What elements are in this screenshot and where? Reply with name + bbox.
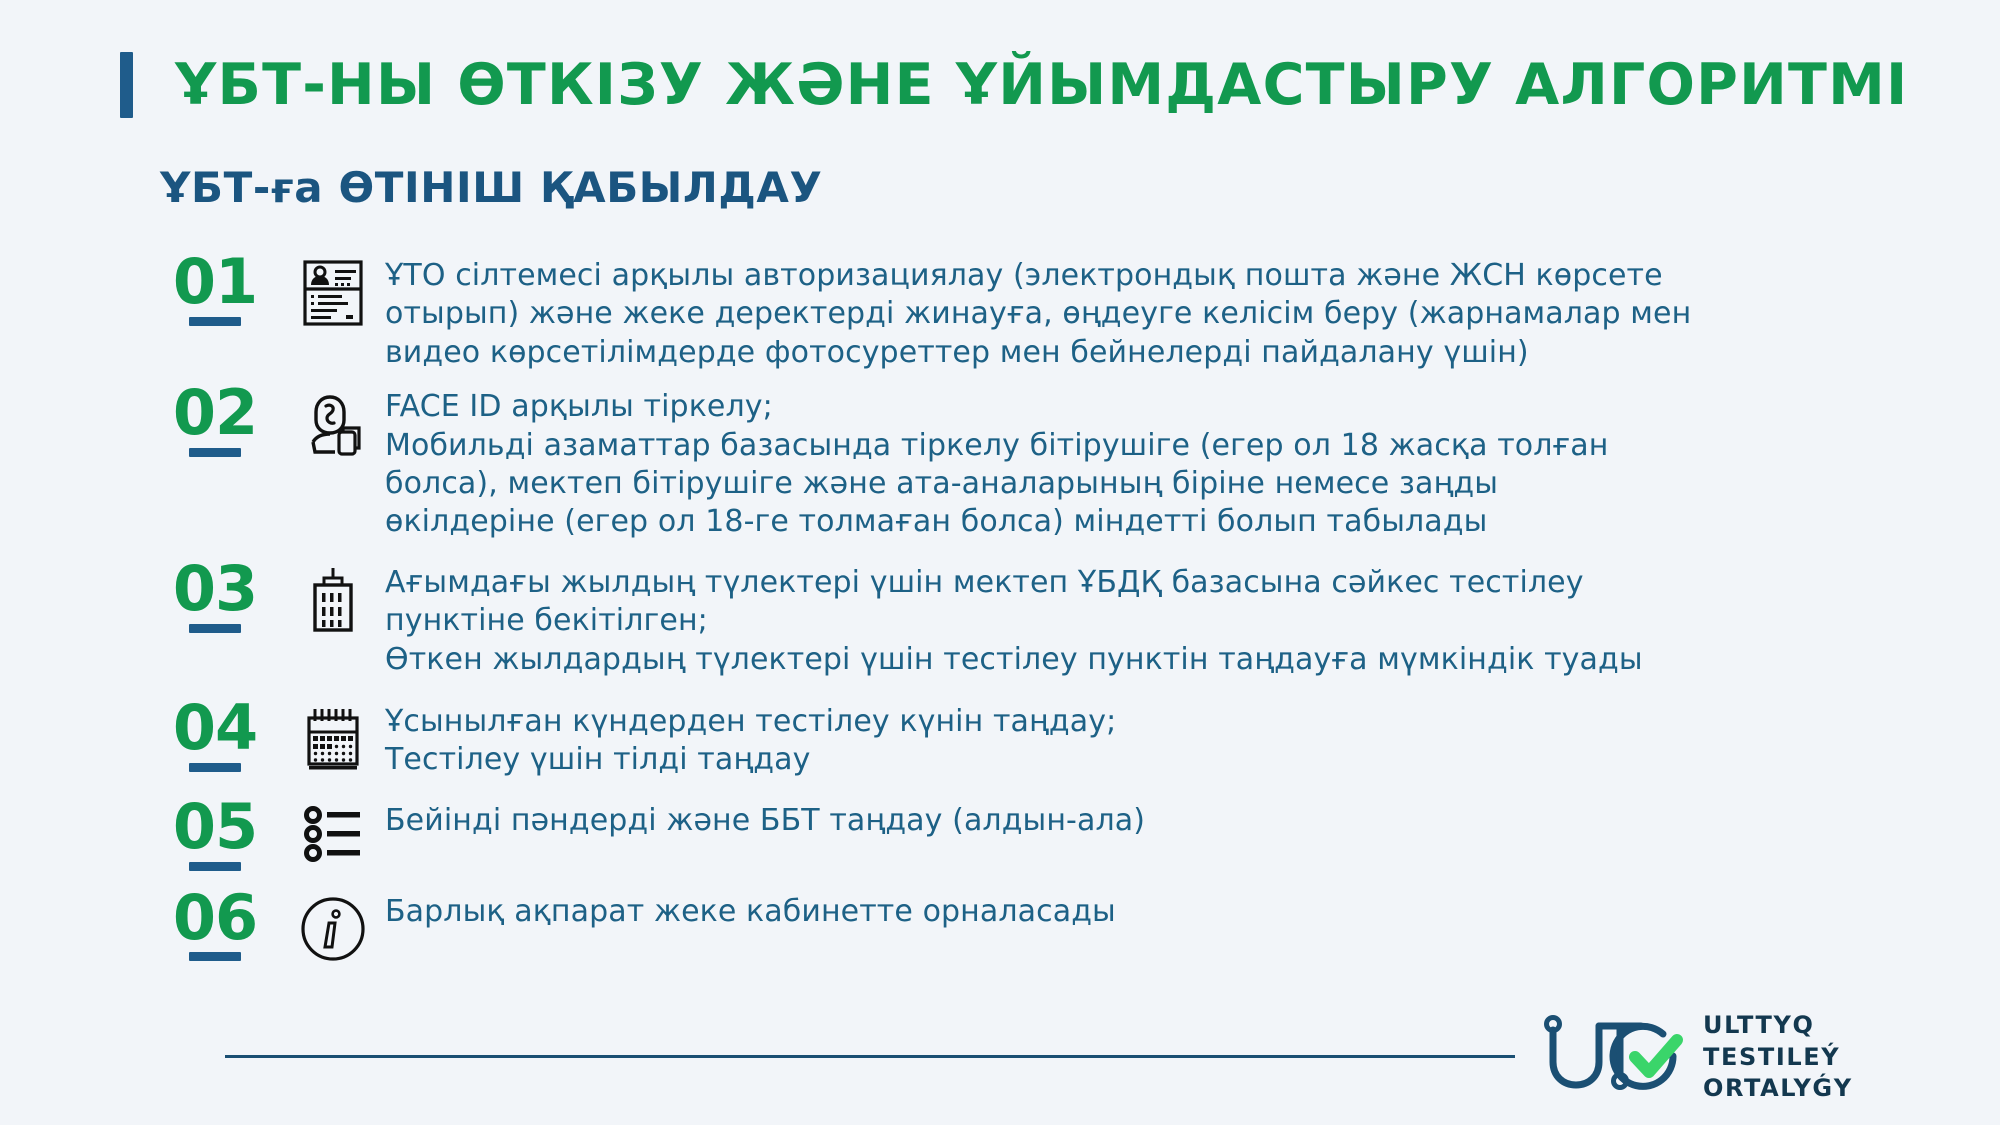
logo-line-2: TESTILEÝ (1703, 1042, 1853, 1074)
bullet-list-icon (280, 798, 385, 864)
step-text: Барлық ақпарат жеке кабинетте орналасады (385, 889, 1850, 931)
logo-line-3: ORTALYǴY (1703, 1073, 1853, 1105)
step-number: 06 (173, 889, 257, 948)
step-text: Ұсынылған күндерден тестілеу күнін таңда… (385, 699, 1850, 780)
uto-logo-icon (1535, 1012, 1685, 1104)
step-item: 05 Бейінді пәндерді және ББТ таңдау (алд… (150, 798, 1850, 871)
step-number-underline (189, 862, 241, 871)
steps-list: 01 (150, 253, 1850, 973)
step-number-underline (189, 763, 241, 772)
step-number: 03 (173, 560, 257, 619)
building-icon (280, 560, 385, 634)
step-number-wrap: 02 (150, 384, 280, 457)
face-id-icon (280, 384, 385, 458)
step-item: 04 (150, 699, 1850, 780)
slide-root: ҰБТ-НЫ ӨТКІЗУ ЖӘНЕ ҰЙЫМДАСТЫРУ АЛГОРИТМІ… (0, 0, 2000, 1125)
page-title: ҰБТ-НЫ ӨТКІЗУ ЖӘНЕ ҰЙЫМДАСТЫРУ АЛГОРИТМІ (175, 52, 1908, 118)
step-item: 03 Ағ (150, 560, 1850, 679)
step-number-underline (189, 317, 241, 326)
id-card-icon (280, 253, 385, 327)
step-text: FACE ID арқылы тіркелу; Мобильді азаматт… (385, 384, 1850, 542)
step-number: 05 (173, 798, 257, 857)
step-number-underline (189, 952, 241, 961)
footer-divider (225, 1055, 1515, 1058)
logo-line-1: ULTTYQ (1703, 1010, 1853, 1042)
step-number-underline (189, 448, 241, 457)
step-item: 06 Барлық ақпарат жеке кабинетте орналас… (150, 889, 1850, 963)
step-number: 01 (173, 253, 257, 312)
uto-logo: ULTTYQ TESTILEÝ ORTALYǴY (1535, 1010, 1853, 1105)
step-number-wrap: 01 (150, 253, 280, 326)
step-number-wrap: 03 (150, 560, 280, 633)
info-circle-icon (280, 889, 385, 963)
step-text: Бейінді пәндерді және ББТ таңдау (алдын-… (385, 798, 1850, 840)
page-subtitle: ҰБТ-ға ӨТІНІШ ҚАБЫЛДАУ (160, 163, 823, 212)
step-number-underline (189, 624, 241, 633)
step-text: ҰТО сілтемесі арқылы авторизациялау (эле… (385, 253, 1850, 372)
calendar-icon (280, 699, 385, 773)
page-title-row: ҰБТ-НЫ ӨТКІЗУ ЖӘНЕ ҰЙЫМДАСТЫРУ АЛГОРИТМІ (120, 52, 1908, 118)
uto-logo-text: ULTTYQ TESTILEÝ ORTALYǴY (1703, 1010, 1853, 1105)
step-text: Ағымдағы жылдың түлектері үшін мектеп ҰБ… (385, 560, 1850, 679)
step-number-wrap: 06 (150, 889, 280, 962)
step-item: 01 (150, 253, 1850, 372)
step-number-wrap: 04 (150, 699, 280, 772)
title-accent-bar (120, 52, 133, 118)
step-number: 02 (173, 384, 257, 443)
step-item: 02 FACE ID арқылы тіркелу; Мобильді азам… (150, 384, 1850, 542)
step-number-wrap: 05 (150, 798, 280, 871)
step-number: 04 (173, 699, 257, 758)
